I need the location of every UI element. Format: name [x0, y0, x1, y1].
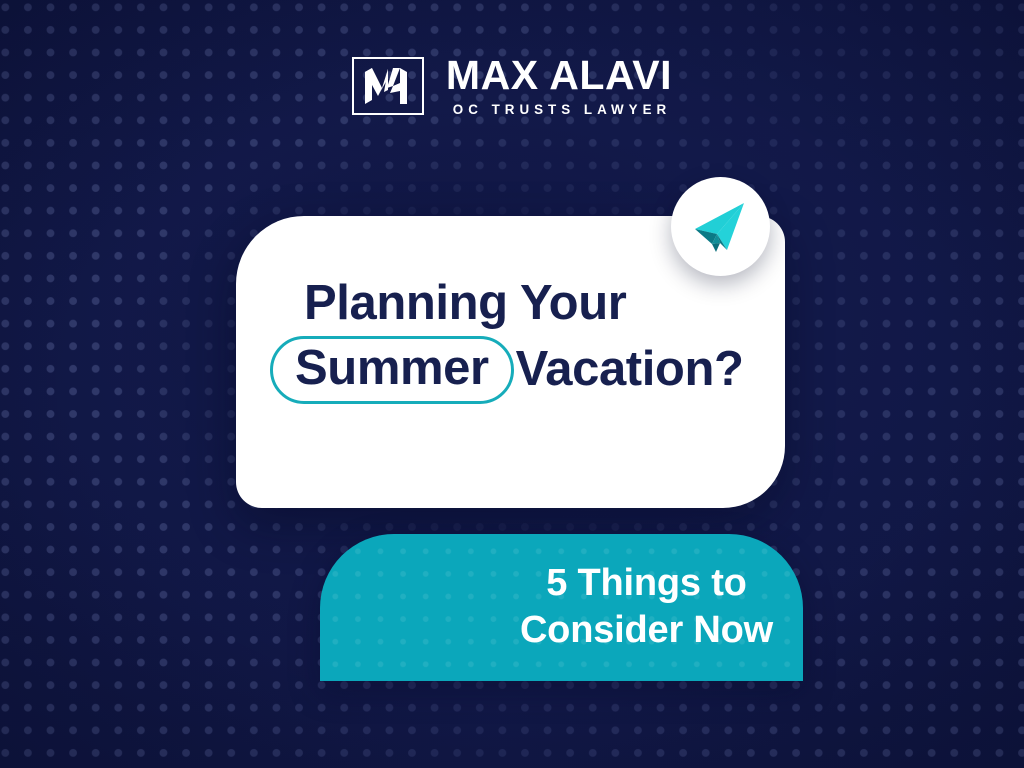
subtitle-line-1: 5 Things to — [520, 560, 773, 608]
brand-lockup: MAX ALAVI OC TRUSTS LAWYER — [0, 55, 1024, 117]
headline-line-1: Planning Your — [270, 274, 765, 334]
highlighted-word-summer: Summer — [270, 336, 514, 404]
subtitle-banner: 5 Things to Consider Now — [320, 534, 803, 681]
poster-canvas: MAX ALAVI OC TRUSTS LAWYER Planning Your… — [0, 0, 1024, 768]
ma-monogram-icon — [352, 57, 424, 115]
subtitle-text: 5 Things to Consider Now — [520, 560, 773, 656]
headline-card-content: Planning Your SummerVacation? — [270, 274, 765, 404]
headline-word-vacation: Vacation? — [516, 340, 744, 400]
brand-name: MAX ALAVI — [446, 55, 672, 97]
brand-tagline: OC TRUSTS LAWYER — [446, 102, 672, 117]
subtitle-line-2: Consider Now — [520, 608, 773, 656]
paper-plane-icon — [671, 177, 770, 276]
headline-line-2: SummerVacation? — [270, 336, 765, 404]
brand-text-block: MAX ALAVI OC TRUSTS LAWYER — [446, 55, 672, 117]
